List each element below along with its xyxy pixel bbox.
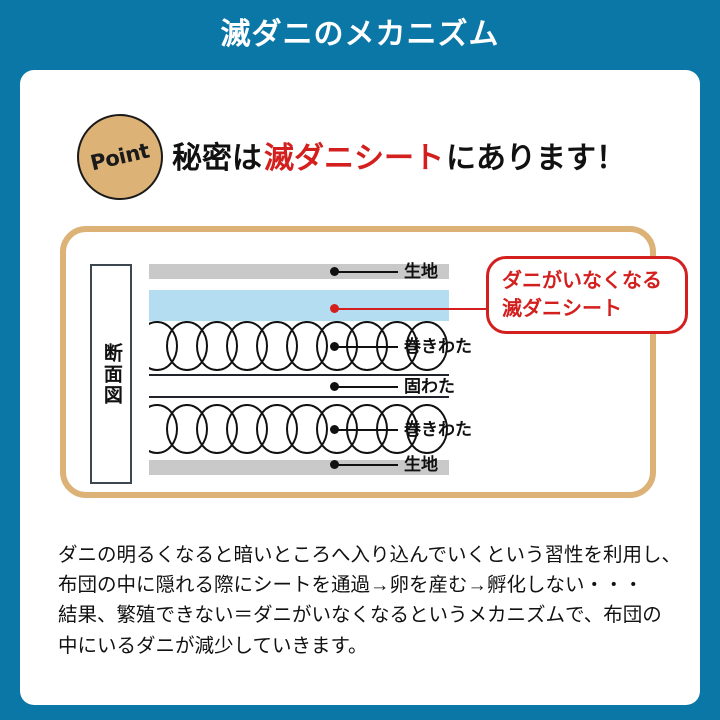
paragraph-text: ダニの xyxy=(58,544,117,566)
headline-text: 秘密は滅ダニシートにあります！ xyxy=(172,110,626,200)
layer-label-coil-lower: 巻きわた xyxy=(404,421,472,438)
paragraph-line: 結果、繁殖できない＝ダニがいなくなるというメカニズムで、布団の xyxy=(58,600,673,630)
cross-section-label: 断面図 xyxy=(99,343,123,406)
leader-line-sheet xyxy=(336,308,488,310)
content-card: Point 秘密は滅ダニシートにあります！ 断面図 xyxy=(20,70,700,705)
paragraph-text: というメカニズムで、布団の xyxy=(409,604,662,626)
title-bar: 滅ダニのメカニズム xyxy=(0,0,720,70)
layer-label-fabric-bottom: 生地 xyxy=(404,456,438,473)
leader-line-fabric-top xyxy=(336,271,398,273)
description-paragraph: ダニの明るくなると暗いところへ入り込んでいくという習性を利用し、布団の中に隠れる… xyxy=(58,540,673,661)
paragraph-text: 中にいる xyxy=(58,635,136,657)
leader-line-coil-upper xyxy=(336,346,398,348)
point-badge-label: Point xyxy=(88,139,151,176)
layer-datsuni-sheet xyxy=(149,290,449,321)
paragraph-line: ダニの明るくなると暗いところへ入り込んでいくという習性を利用し、 xyxy=(58,540,673,570)
paragraph-text: 結果、 xyxy=(58,604,117,626)
headline-emphasis: 滅ダニシート xyxy=(262,133,446,177)
page-title: 滅ダニのメカニズム xyxy=(221,20,500,50)
layer-label-fabric-top: 生地 xyxy=(404,263,438,280)
datsuni-sheet-callout: ダニがいなくなる 滅ダニシート xyxy=(486,256,688,334)
leader-line-coil-lower xyxy=(336,429,398,431)
diagram-frame: 断面図 xyxy=(60,226,656,498)
paragraph-text: していきます。 xyxy=(234,635,368,657)
point-badge: Point xyxy=(77,114,163,200)
paragraph-highlight: ダニが減少 xyxy=(136,631,234,661)
paragraph-highlight: 繁殖できない＝ダニがいなくなる xyxy=(117,600,410,630)
layer-stack xyxy=(149,264,449,484)
headline-prefix: 秘密は xyxy=(172,133,262,177)
leader-line-firm xyxy=(336,386,398,388)
cross-section-box: 断面図 xyxy=(90,264,132,484)
headline-row: Point 秘密は滅ダニシートにあります！ xyxy=(20,110,700,200)
callout-line-2: 滅ダニシート xyxy=(502,295,622,323)
paragraph-line: 中にいるダニが減少していきます。 xyxy=(58,631,673,661)
leader-line-fabric-bottom xyxy=(336,464,398,466)
paragraph-line: 布団の中に隠れる際にシートを通過→卵を産む→孵化しない・・・ xyxy=(58,570,673,600)
layer-label-coil-upper: 巻きわた xyxy=(404,338,472,355)
paragraph-highlight: 明るくなると暗いところへ入り込んでいく xyxy=(117,540,487,570)
paragraph-text: という習性を利用し、 xyxy=(486,544,681,566)
paragraph-text: 布団の中に隠れる際にシートを通過→卵を産む→孵化しない・・・ xyxy=(58,574,643,596)
headline-suffix: にあります！ xyxy=(446,133,626,177)
callout-line-1: ダニがいなくなる xyxy=(502,267,662,295)
headline-emphasis-text: 滅ダニシート xyxy=(264,142,444,175)
layer-label-firm: 固わた xyxy=(404,378,455,395)
